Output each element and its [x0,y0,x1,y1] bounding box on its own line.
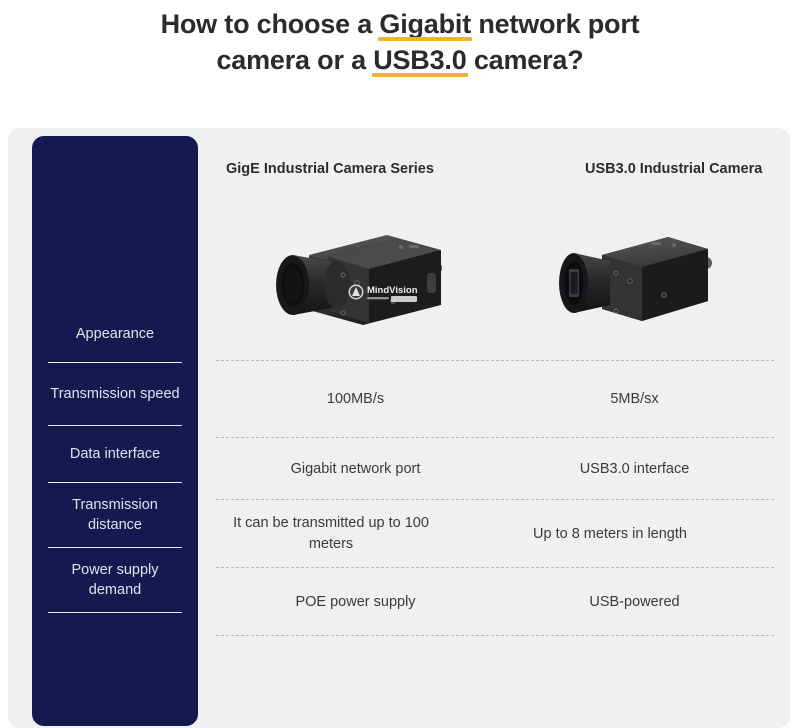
gige-camera-illustration: MindVision [251,217,461,345]
table-row: It can be transmitted up to 100 meters U… [216,501,774,567]
table-header-row: GigE Industrial Camera Series USB3.0 Ind… [216,136,774,202]
comparison-table: GigE Industrial Camera Series USB3.0 Ind… [216,136,774,637]
title-text-2b: camera? [467,45,584,75]
gige-camera-image: MindVision [216,202,495,360]
title-text-2a: camera or a [216,45,373,75]
cell-usb-transmission-distance: Up to 8 meters in length [446,501,774,567]
title-text-1a: How to choose a [161,9,380,39]
cell-gige-power-supply: POE power supply [216,569,495,635]
sidebar-divider [48,612,182,613]
sidebar-item-data-interface[interactable]: Data interface [48,426,182,482]
sidebar-item-power-supply-demand[interactable]: Power supply demand [48,548,182,612]
table-row: Gigabit network port USB3.0 interface [216,439,774,499]
table-row: MindVision [216,202,774,360]
cell-usb-transmission-speed: 5MB/sx [495,362,774,437]
cell-gige-data-interface: Gigabit network port [216,439,495,499]
cell-gige-transmission-distance: It can be transmitted up to 100 meters [216,501,446,567]
usb-camera-illustration [542,217,728,345]
title-line-2: camera or a USB3.0 camera? [0,42,800,78]
cell-usb-power-supply: USB-powered [495,569,774,635]
criteria-sidebar: Appearance Transmission speed Data inter… [32,136,198,726]
table-row: 100MB/s 5MB/sx [216,362,774,437]
sidebar-item-transmission-distance[interactable]: Transmission distance [48,483,182,547]
cell-gige-transmission-speed: 100MB/s [216,362,495,437]
gige-brand-text: MindVision [367,285,418,296]
sidebar-item-label: Data interface [70,444,160,464]
sidebar-item-label: Appearance [76,324,154,344]
title-highlight-gigabit: Gigabit [379,6,471,42]
title-highlight-usb30: USB3.0 [373,42,466,78]
column-header-gige: GigE Industrial Camera Series [216,136,495,202]
table-row: POE power supply USB-powered [216,569,774,635]
sidebar-item-appearance[interactable]: Appearance [48,306,182,362]
row-divider [216,635,774,637]
sidebar-item-label: Power supply demand [48,560,182,600]
sidebar-item-transmission-speed[interactable]: Transmission speed [48,363,182,425]
title-line-1: How to choose a Gigabit network port [0,6,800,42]
column-header-usb: USB3.0 Industrial Camera [495,136,774,202]
title-text-1b: network port [471,9,639,39]
sidebar-item-label: Transmission distance [48,495,182,535]
page-title: How to choose a Gigabit network port cam… [0,0,800,78]
sidebar-item-label: Transmission speed [50,384,179,404]
cell-usb-data-interface: USB3.0 interface [495,439,774,499]
usb-camera-image [495,202,774,360]
sidebar-top-spacer [48,136,182,306]
